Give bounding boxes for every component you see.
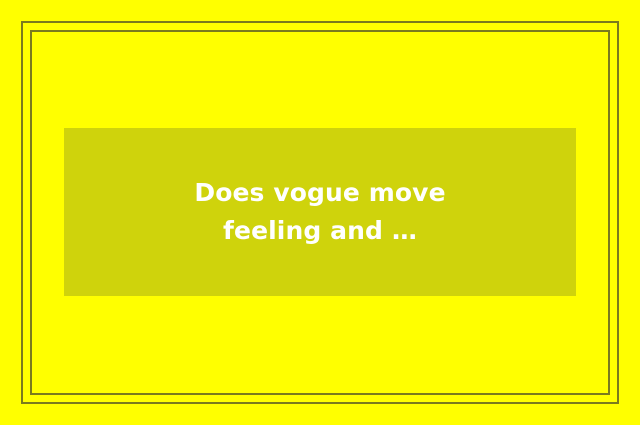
caption-line-2: feeling and … <box>223 212 417 250</box>
caption-banner: Does vogue move feeling and … <box>64 128 576 296</box>
poster-canvas: Does vogue move feeling and … <box>0 0 640 425</box>
caption-line-1: Does vogue move <box>194 174 445 212</box>
